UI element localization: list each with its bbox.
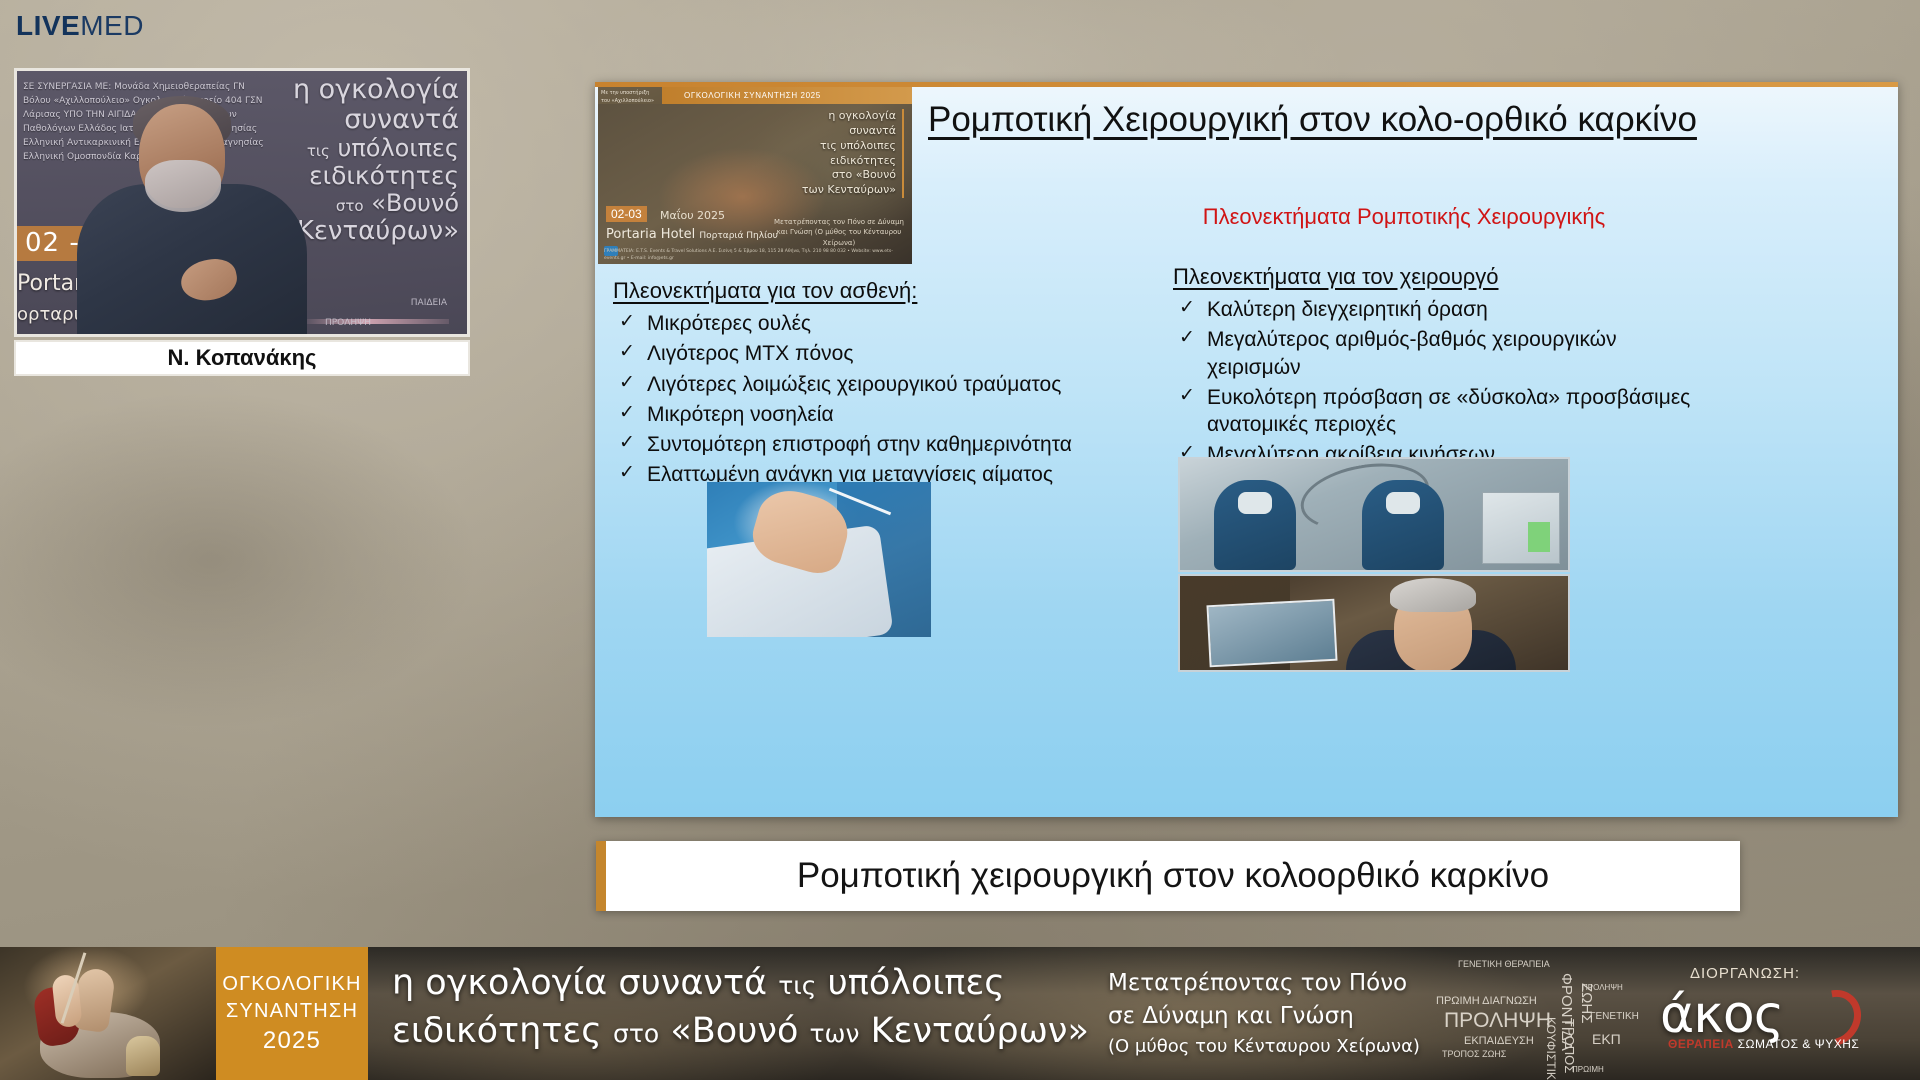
backdrop-keyword-1: ΠΡΟΛΗΨΗ <box>325 318 371 330</box>
list-item-label: Συντομότερη επιστροφή στην καθημερινότητ… <box>647 433 1072 456</box>
poster-title-block: η ογκολογία συναντά τις υπόλοιπες ειδικό… <box>784 109 904 198</box>
footer-title-2b: στο <box>613 1019 659 1048</box>
advantages-patient-heading: Πλεονεκτήματα για τον ασθενή: <box>613 278 1193 304</box>
speaker-video-panel[interactable]: ΣΕ ΣΥΝΕΡΓΑΣΙΑ ΜΕ: Μονάδα Χημειοθεραπείας… <box>14 68 470 337</box>
wordcloud-term: ΤΡΟΠΟΣ ΖΩΗΣ <box>1442 1049 1506 1059</box>
footer-slogan-line-1: Μετατρέποντας τον Πόνο <box>1108 967 1420 1000</box>
checkmark-icon: ✓ <box>619 310 635 335</box>
conference-footer-banner: ΟΓΚΟΛΟΓΙΚΗ ΣΥΝΑΝΤΗΣΗ 2025 η ογκολογία συ… <box>0 947 1920 1080</box>
poster-date: 02-03 <box>606 206 647 222</box>
advantages-patient-list: ✓Μικρότερες ουλές ✓Λιγότερος ΜΤΧ πόνος ✓… <box>613 310 1193 489</box>
backdrop-line-5-small: στο <box>336 197 364 215</box>
surgical-mask-icon <box>1386 492 1420 514</box>
lion-figure <box>126 1036 160 1076</box>
checkmark-icon: ✓ <box>619 371 635 396</box>
poster-title-6: των Κενταύρων» <box>784 183 904 198</box>
speaker-nameplate: Ν. Κοπανάκης <box>14 340 470 376</box>
footer-slogan-line-3: (Ο μύθος του Κένταυρου Χείρωνα) <box>1108 1034 1420 1060</box>
session-caption-text: Ρομποτική χειρουργική στον κολοορθικό κα… <box>797 856 1549 896</box>
list-item: ✓Μικρότερη νοσηλεία <box>613 401 1193 428</box>
poster-footer-text: ΓΡΑΜΜΑΤΕΙΑ: E.T.S. Events & Travel Solut… <box>604 249 906 262</box>
list-item: ✓Λιγότερος ΜΤΧ πόνος <box>613 340 1193 367</box>
akos-logo-tagline: ΘΕΡΑΠΕΙΑ ΣΩΜΑΤΟΣ & ΨΥΧΗΣ <box>1668 1037 1859 1051</box>
poster-hotel-location: Πορταριά Πηλίου <box>699 231 777 241</box>
presenter-figure <box>73 94 313 334</box>
footer-slogan-line-2: σε Δύναμη και Γνώση <box>1108 1000 1420 1033</box>
wordcloud-term: ΠΡΟΛΗΨΗ <box>1444 1009 1551 1033</box>
speaker-name: Ν. Κοπανάκης <box>168 345 317 371</box>
surgeon-portrait-photo <box>1178 574 1570 672</box>
surgeon-figure-2 <box>1362 480 1444 570</box>
footer-title-line-2: ειδικότητες στο «Βουνό των Κενταύρων» <box>392 1007 1089 1055</box>
wordcloud-term: ΕΚΠΑΙΔΕΥΣΗ <box>1464 1035 1534 1047</box>
equipment-screen <box>1528 522 1550 552</box>
checkmark-icon: ✓ <box>619 461 635 486</box>
backdrop-line-3-main: υπόλοιπες <box>337 134 459 162</box>
checkmark-icon: ✓ <box>1179 296 1195 321</box>
list-item: ✓Λιγότερες λοιμώξεις χειρουργικού τραύμα… <box>613 371 1193 398</box>
footer-badge-line-1: ΟΓΚΟΛΟΓΙΚΗ <box>222 973 361 996</box>
list-item: ✓Ευκολότερη πρόσβαση σε «δύσκολα» προσβά… <box>1173 384 1693 439</box>
footer-title-1b: τις <box>778 971 816 1000</box>
list-item-label: Λιγότερος ΜΤΧ πόνος <box>647 342 853 365</box>
poster-hotel-name: Portaria Hotel <box>606 227 695 242</box>
footer-badge-line-2: ΣΥΝΑΝΤΗΣΗ <box>226 1000 358 1023</box>
wordcloud-term: ΠΡΩΙΜΗ ΔΙΑΓΝΩΣΗ <box>1436 995 1537 1007</box>
wordcloud-term: ΕΚΠ <box>1592 1031 1621 1047</box>
footer-badge-year: 2025 <box>263 1027 321 1055</box>
footer-event-badge: ΟΓΚΟΛΟΓΙΚΗ ΣΥΝΑΝΤΗΣΗ 2025 <box>216 947 368 1080</box>
poster-title-1: η ογκολογία <box>784 109 904 124</box>
footer-main-title: η ογκολογία συναντά τις υπόλοιπες ειδικό… <box>392 959 1089 1056</box>
akos-logo: άκος ΘΕΡΑΠΕΙΑ ΣΩΜΑΤΟΣ & ΨΥΧΗΣ <box>1660 985 1783 1045</box>
poster-title-4: ειδικότητες <box>784 154 904 169</box>
slide-subtitle: Πλεονεκτήματα Ρομποτικής Χειρουργικής <box>928 204 1880 230</box>
operating-room-photo <box>1178 457 1570 572</box>
footer-centaur-artwork <box>0 947 216 1080</box>
poster-date-month: Μαΐου 2025 <box>660 209 725 222</box>
list-item-label: Λιγότερες λοιμώξεις χειρουργικού τραύματ… <box>647 373 1061 396</box>
backdrop-line-5-main: «Βουνό <box>371 189 459 217</box>
conference-poster-thumbnail: Με την υποστήριξη του «Αχιλλοπούλειο» ΓΝ… <box>598 87 912 264</box>
advantages-patient-column: Πλεονεκτήματα για τον ασθενή: ✓Μικρότερε… <box>613 278 1193 492</box>
list-item: ✓Συντομότερη επιστροφή στην καθημερινότη… <box>613 431 1193 458</box>
list-item: ✓Καλύτερη διεγχειρητική όραση <box>1173 296 1693 323</box>
footer-title-2d: των <box>810 1019 860 1048</box>
footer-title-2e: Κενταύρων» <box>859 1011 1088 1051</box>
logo-med-text: MED <box>80 10 144 41</box>
footer-title-1c: υπόλοιπες <box>816 963 1004 1003</box>
livemed-logo: LIVEMED <box>16 12 144 40</box>
wordcloud-term: ΓΕΝΕΤΙΚΗ <box>1590 1011 1639 1022</box>
surgical-mask-icon <box>1238 492 1272 514</box>
checkmark-icon: ✓ <box>1179 384 1195 409</box>
video-frame: ΣΕ ΣΥΝΕΡΓΑΣΙΑ ΜΕ: Μονάδα Χημειοθεραπείας… <box>17 71 467 334</box>
poster-title-5: στο «Βουνό <box>784 168 904 183</box>
patient-photo <box>707 482 931 637</box>
list-item-label: Μεγαλύτερος αριθμός-βαθμός χειρουργικών … <box>1207 328 1617 378</box>
list-item: ✓Μικρότερες ουλές <box>613 310 1193 337</box>
akos-tagline-a: ΘΕΡΑΠΕΙΑ <box>1668 1037 1734 1051</box>
slide-title: Ρομποτική Χειρουργική στον κολο-ορθικό κ… <box>928 100 1890 140</box>
list-item-label: Μικρότερες ουλές <box>647 312 811 335</box>
backdrop-accent-line <box>299 319 449 324</box>
advantages-surgeon-heading: Πλεονεκτήματα για τον χειρουργό <box>1173 264 1693 290</box>
presentation-slide[interactable]: Με την υποστήριξη του «Αχιλλοπούλειο» ΓΝ… <box>595 82 1898 817</box>
logo-live-text: LIVE <box>16 10 80 41</box>
session-caption-bar: Ρομποτική χειρουργική στον κολοορθικό κα… <box>596 841 1740 911</box>
poster-title-2: συναντά <box>784 124 904 139</box>
wordcloud-term: ΚΟΥΦΙΣΤΙΚΗ <box>1544 1017 1558 1080</box>
backdrop-keyword-2: ΠΑΙΔΕΙΑ <box>411 298 447 308</box>
portrait-hair <box>1390 578 1476 612</box>
footer-title-2a: ειδικότητες <box>392 1011 613 1051</box>
poster-header-bar: ΟΓΚΟΛΟΓΙΚΗ ΣΥΝΑΝΤΗΣΗ 2025 <box>662 87 912 104</box>
checkmark-icon: ✓ <box>619 401 635 426</box>
wordcloud-term: ΠΡΟΛΗΨΗ <box>1582 983 1623 992</box>
akos-logo-word: άκος <box>1660 985 1783 1045</box>
list-item-label: Καλύτερη διεγχειρητική όραση <box>1207 298 1488 321</box>
wordcloud-term: ΠΡΩΙΜΗ <box>1572 1065 1604 1074</box>
portrait-held-photograph <box>1206 599 1337 668</box>
checkmark-icon: ✓ <box>619 431 635 456</box>
footer-slogan: Μετατρέποντας τον Πόνο σε Δύναμη και Γνώ… <box>1108 967 1420 1060</box>
checkmark-icon: ✓ <box>619 340 635 365</box>
footer-word-cloud: ΓΕΝΕΤΙΚΗ ΘΕΡΑΠΕΙΑ ΠΡΩΙΜΗ ΔΙΑΓΝΩΣΗ ΠΡΟΛΗΨ… <box>1432 957 1607 1075</box>
poster-hotel: Portaria Hotel Πορταριά Πηλίου <box>606 227 778 242</box>
poster-title-3: τις υπόλοιπες <box>784 139 904 154</box>
footer-title-1a: η ογκολογία συναντά <box>392 963 778 1003</box>
footer-title-line-1: η ογκολογία συναντά τις υπόλοιπες <box>392 959 1089 1007</box>
poster-slogan: Μετατρέποντας τον Πόνο σε Δύναμη και Γνώ… <box>774 217 904 249</box>
presenter-beard <box>145 160 221 212</box>
wordcloud-term: ΓΕΝΕΤΙΚΗ ΘΕΡΑΠΕΙΑ <box>1458 959 1550 969</box>
list-item: ✓Μεγαλύτερος αριθμός-βαθμός χειρουργικών… <box>1173 326 1693 381</box>
list-item-label: Μικρότερη νοσηλεία <box>647 403 834 426</box>
footer-organizer-label: ΔΙΟΡΓΑΝΩΣΗ: <box>1690 965 1800 982</box>
footer-title-2c: «Βουνό <box>659 1011 809 1051</box>
list-item-label: Ευκολότερη πρόσβαση σε «δύσκολα» προσβάσ… <box>1207 386 1690 436</box>
surgeon-figure-1 <box>1214 480 1296 570</box>
akos-tagline-b: ΣΩΜΑΤΟΣ & ΨΥΧΗΣ <box>1734 1037 1860 1051</box>
checkmark-icon: ✓ <box>1179 326 1195 351</box>
